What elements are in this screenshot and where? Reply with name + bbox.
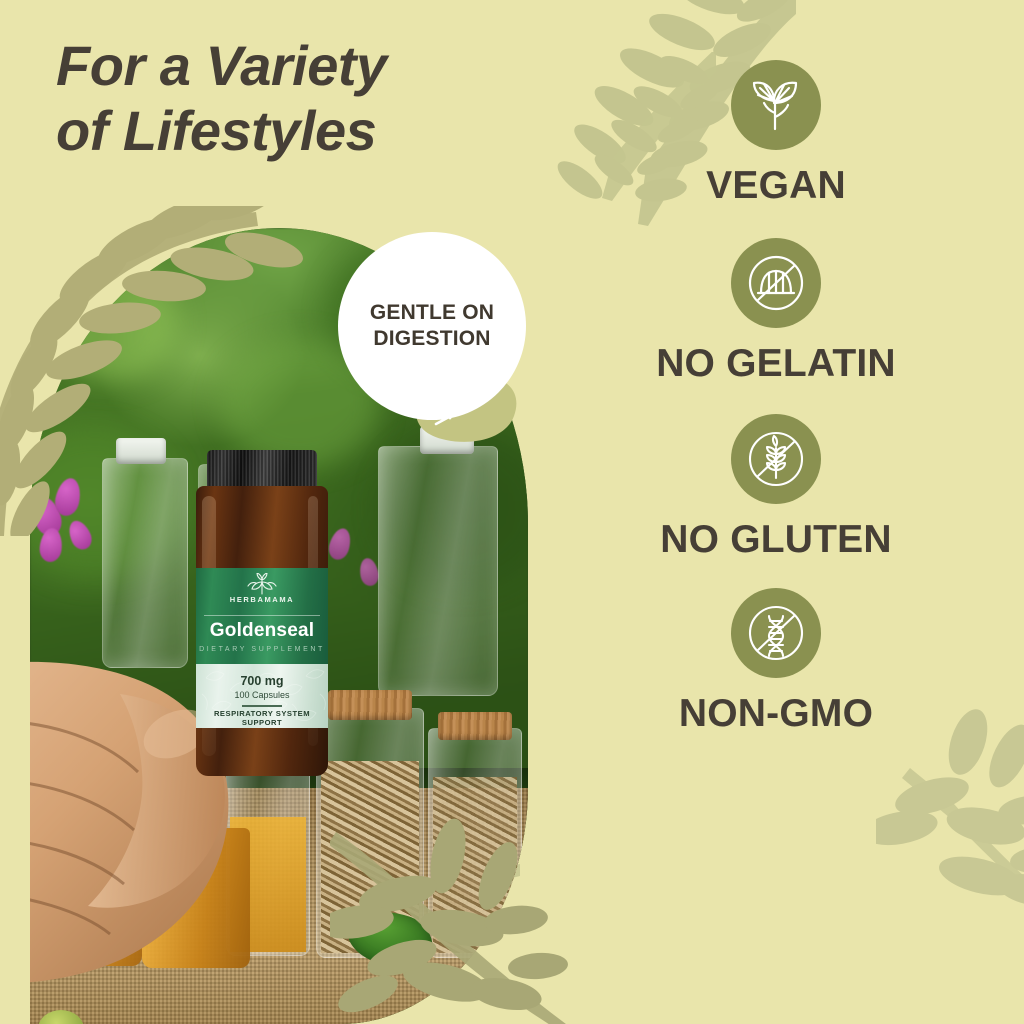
- label-capsule-count: 100 Capsules: [196, 690, 328, 700]
- label-brand-zone: HERBAMAMA: [196, 570, 328, 614]
- dried-herbs: [433, 777, 517, 953]
- feature-list: VEGAN NO GELATIN: [556, 60, 996, 750]
- herb-sprout-icon: [245, 573, 279, 595]
- label-divider: [204, 615, 320, 616]
- label-claim: RESPIRATORY SYSTEM SUPPORT: [196, 709, 328, 727]
- no-dna-helix-icon: [745, 602, 807, 664]
- supplement-bottle: HERBAMAMA Goldenseal DIETARY SUPPLEMENT …: [182, 450, 342, 780]
- feature-icon-circle: [731, 60, 821, 150]
- glass-bottle: [378, 446, 498, 696]
- feature-label: NO GLUTEN: [556, 518, 996, 562]
- promo-graphic: For a Variety of Lifestyles: [0, 0, 1024, 1024]
- label-descriptor: DIETARY SUPPLEMENT: [196, 646, 328, 653]
- badge-label: GENTLE ON DIGESTION: [370, 300, 494, 353]
- feature-label: NO GELATIN: [556, 342, 996, 386]
- herb-jar: [428, 728, 522, 958]
- glass-stopper: [116, 438, 166, 464]
- gentle-on-digestion-badge: GENTLE ON DIGESTION: [338, 232, 526, 420]
- no-gelatin-mold-icon: [745, 252, 807, 314]
- page-title: For a Variety of Lifestyles: [56, 34, 526, 164]
- feature-icon-circle: [731, 414, 821, 504]
- feature-item-non-gmo: NON-GMO: [556, 588, 996, 736]
- cork-stopper: [438, 712, 512, 740]
- bottle-cap: [207, 450, 317, 490]
- no-wheat-icon: [745, 428, 807, 490]
- feature-item-no-gluten: NO GLUTEN: [556, 414, 996, 562]
- feature-label: VEGAN: [556, 164, 996, 208]
- feature-icon-circle: [731, 588, 821, 678]
- bokeh-blob: [48, 262, 178, 382]
- label-product-name: Goldenseal: [196, 620, 328, 642]
- feature-item-vegan: VEGAN: [556, 60, 996, 208]
- label-dosage: 700 mg: [196, 674, 328, 688]
- label-brand: HERBAMAMA: [196, 595, 328, 604]
- bottle-label: HERBAMAMA Goldenseal DIETARY SUPPLEMENT …: [196, 568, 328, 728]
- two-leaves-icon: [748, 77, 804, 133]
- feature-label: NON-GMO: [556, 692, 996, 736]
- feature-item-no-gelatin: NO GELATIN: [556, 238, 996, 386]
- feature-icon-circle: [731, 238, 821, 328]
- label-rule: [242, 705, 282, 707]
